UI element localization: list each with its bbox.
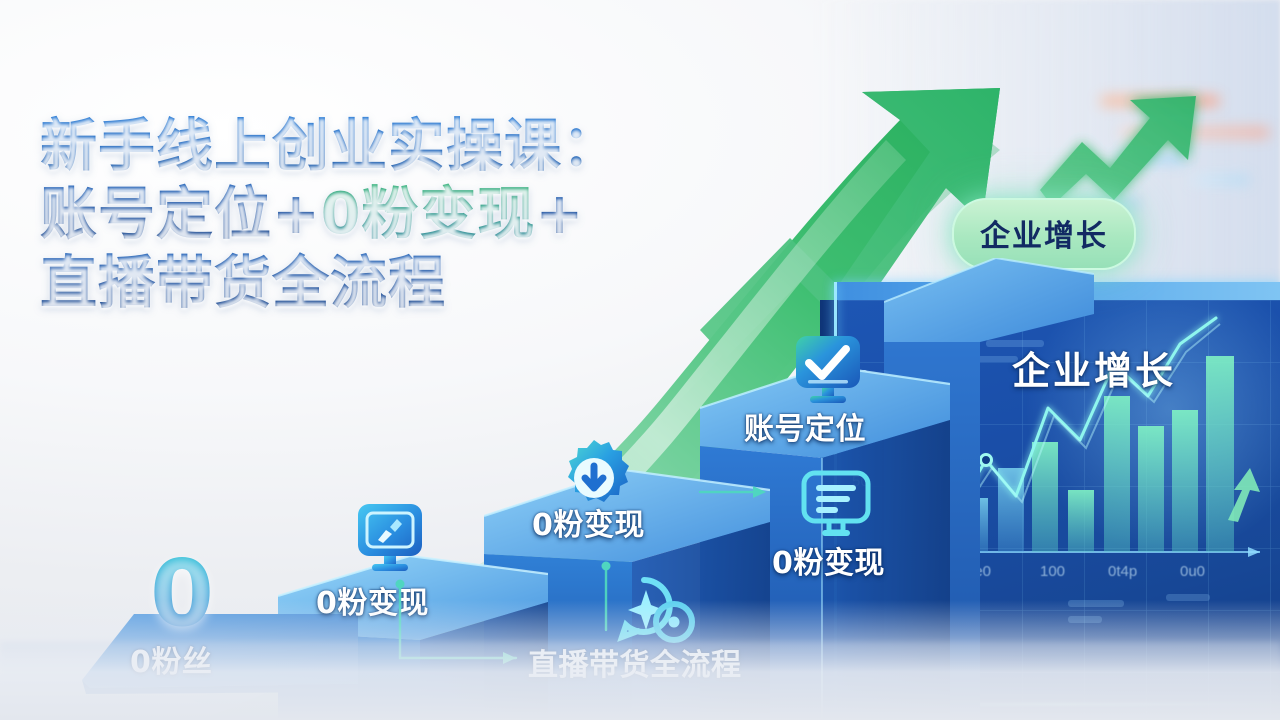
- floor-fade: [0, 600, 1280, 720]
- chart-xtick: 0u0: [1180, 563, 1205, 580]
- title-line-2: 账号定位+0粉变现+: [40, 180, 760, 248]
- display-lines-icon: [798, 468, 874, 550]
- chart-xtick: 0t4p: [1108, 563, 1137, 580]
- poster-title: 新手线上创业实操课： 账号定位+0粉变现+ 直播带货全流程: [40, 112, 760, 317]
- gear-download-icon: [552, 438, 636, 522]
- title-line-3: 直播带货全流程: [40, 249, 760, 317]
- monitor-pen-icon: [352, 500, 428, 584]
- title-line-1: 新手线上创业实操课：: [40, 112, 760, 180]
- poster-canvas: 新手线上创业实操课： 账号定位+0粉变现+ 直播带货全流程: [0, 0, 1280, 720]
- background-streak-red: [1120, 128, 1270, 137]
- background-streak-orange: [1100, 96, 1220, 106]
- background-streak-cyan-1: [1115, 155, 1185, 163]
- background-streak-cyan-2: [1192, 176, 1250, 184]
- monitor-check-icon: [790, 332, 866, 416]
- chart-x-axis-arrow: [1248, 547, 1260, 557]
